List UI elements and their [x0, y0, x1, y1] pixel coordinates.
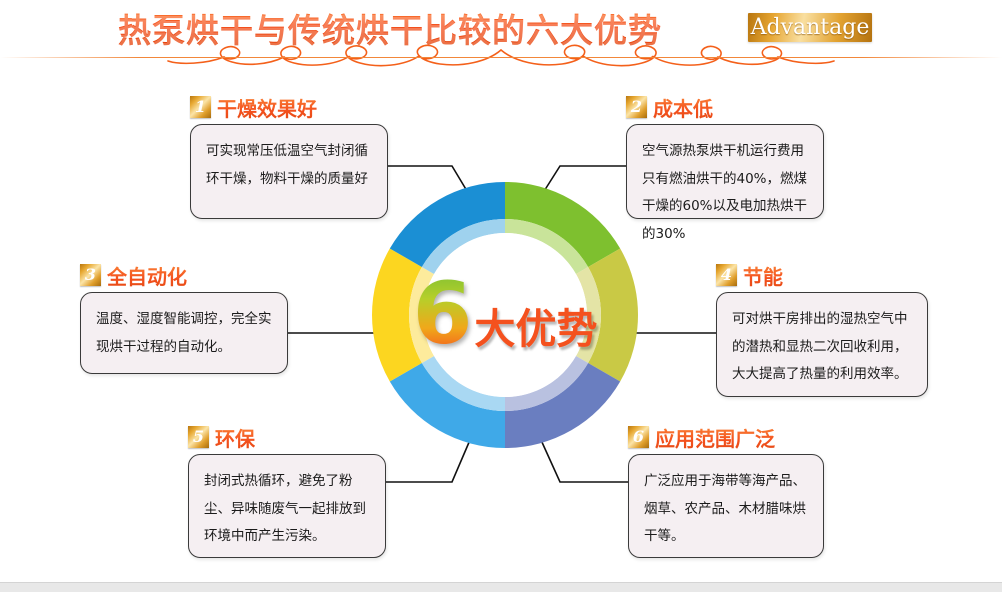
header: 热泵烘干与传统烘干比较的六大优势 Advantage — [0, 0, 1002, 78]
advantage-header-5: 5 环保 — [188, 424, 386, 450]
donut-chart: 6 大优势 — [372, 182, 638, 448]
advantage-body-4: 可对烘干房排出的湿热空气中的潜热和显热二次回收利用，大大提高了热量的利用效率。 — [716, 292, 928, 397]
number-badge-3: 3 — [80, 264, 101, 286]
donut-hole — [423, 233, 587, 397]
advantage-header-1: 1 干燥效果好 — [190, 94, 388, 120]
advantage-body-3: 温度、湿度智能调控，完全实现烘干过程的自动化。 — [80, 292, 288, 374]
advantage-item-1[interactable]: 1 干燥效果好 可实现常压低温空气封闭循环干燥，物料干燥的质量好 — [190, 94, 388, 219]
advantage-item-2[interactable]: 2 成本低 空气源热泵烘干机运行费用只有燃油烘干的40%，燃煤干燥的60%以及电… — [626, 94, 824, 219]
number-badge-1: 1 — [190, 96, 211, 118]
advantage-item-4[interactable]: 4 节能 可对烘干房排出的湿热空气中的潜热和显热二次回收利用，大大提高了热量的利… — [716, 262, 928, 397]
advantage-item-3[interactable]: 3 全自动化 温度、湿度智能调控，完全实现烘干过程的自动化。 — [80, 262, 288, 374]
number-badge-4: 4 — [716, 264, 737, 286]
advantage-body-6: 广泛应用于海带等海产品、烟草、农产品、木材腊味烘干等。 — [628, 454, 824, 558]
advantage-badge-label: Advantage — [748, 13, 872, 42]
advantage-title-1: 干燥效果好 — [217, 93, 317, 122]
number-badge-5: 5 — [188, 426, 209, 448]
advantage-body-5: 封闭式热循环，避免了粉尘、异味随废气一起排放到环境中而产生污染。 — [188, 454, 386, 558]
bottom-bar — [0, 582, 1002, 592]
advantage-title-6: 应用范围广泛 — [655, 423, 775, 452]
advantage-item-5[interactable]: 5 环保 封闭式热循环，避免了粉尘、异味随废气一起排放到环境中而产生污染。 — [188, 424, 386, 558]
advantage-header-3: 3 全自动化 — [80, 262, 288, 288]
advantage-title-4: 节能 — [743, 261, 783, 290]
advantage-badge: Advantage — [748, 13, 872, 42]
number-badge-2: 2 — [626, 96, 647, 118]
advantage-header-2: 2 成本低 — [626, 94, 824, 120]
advantage-header-6: 6 应用范围广泛 — [628, 424, 824, 450]
advantage-header-4: 4 节能 — [716, 262, 928, 288]
advantage-body-1: 可实现常压低温空气封闭循环干燥，物料干燥的质量好 — [190, 124, 388, 219]
advantage-body-2: 空气源热泵烘干机运行费用只有燃油烘干的40%，燃煤干燥的60%以及电加热烘干的3… — [626, 124, 824, 219]
advantage-title-5: 环保 — [215, 423, 255, 452]
number-badge-6: 6 — [628, 426, 649, 448]
header-divider-rule — [0, 57, 1002, 58]
infographic-canvas: 热泵烘干与传统烘干比较的六大优势 Advantage — [0, 0, 1002, 592]
advantage-title-2: 成本低 — [653, 93, 713, 122]
advantage-item-6[interactable]: 6 应用范围广泛 广泛应用于海带等海产品、烟草、农产品、木材腊味烘干等。 — [628, 424, 824, 558]
advantage-title-3: 全自动化 — [107, 261, 187, 290]
